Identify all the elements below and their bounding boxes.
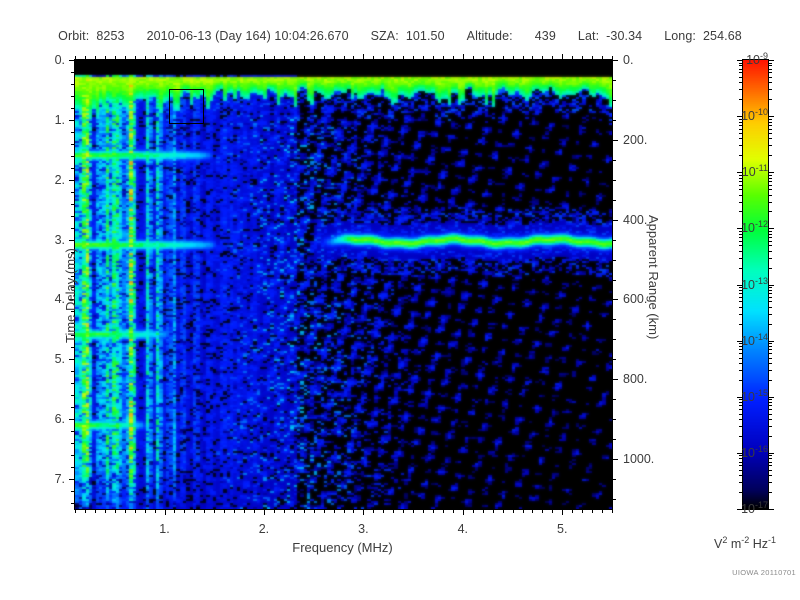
tick-frequency-minor <box>403 509 404 513</box>
tick-apparent-range-minor <box>612 399 616 400</box>
colorbar-tick-minor-right <box>768 185 772 186</box>
sza-label: SZA: <box>371 29 399 43</box>
tick-frequency-minor <box>174 509 175 513</box>
colorbar-tick-minor-left <box>739 462 743 463</box>
tick-frequency-minor <box>572 509 573 513</box>
tick-frequency-minor-top <box>473 56 474 60</box>
colorbar-tick-minor-left <box>739 297 743 298</box>
colorbar-tick-minor-left <box>739 77 743 78</box>
tick-frequency-minor-top <box>254 56 255 60</box>
tick-apparent-range-minor <box>612 80 616 81</box>
tick-frequency-minor <box>105 509 106 513</box>
tick-apparent-range-minor <box>612 200 616 201</box>
time-delay-tick-label: 4. <box>17 292 65 306</box>
tick-time-delay-minor <box>71 455 75 456</box>
tick-time-delay-minor <box>71 407 75 408</box>
time-delay-tick-label: 3. <box>17 233 65 247</box>
colorbar-tick-minor-right <box>768 465 772 466</box>
tick-frequency-minor-top <box>125 56 126 60</box>
tick-time-delay-major <box>69 419 75 420</box>
colorbar-units-label: V2 m-2 Hz-1 <box>690 535 800 551</box>
colorbar-tick-minor-right <box>768 290 772 291</box>
colorbar-tick-minor-left <box>739 301 743 302</box>
tick-frequency-minor-top <box>324 56 325 60</box>
colorbar-tick-minor-left <box>739 419 743 420</box>
tick-apparent-range-minor <box>612 280 616 281</box>
colorbar-label-mantissa: 10 <box>746 53 760 67</box>
colorbar-tick-minor-right <box>768 181 772 182</box>
colorbar-tick-minor-right <box>768 258 772 259</box>
long-value: 254.68 <box>703 29 742 43</box>
colorbar-tick-minor-right <box>768 129 772 130</box>
colorbar-tick-minor-left <box>739 426 743 427</box>
colorbar-tick-minor-left <box>739 258 743 259</box>
colorbar-tick-minor-left <box>739 409 743 410</box>
colorbar-tick-minor-left <box>739 89 743 90</box>
colorbar-tick-minor-right <box>768 72 772 73</box>
colorbar-tick-minor-right <box>768 462 772 463</box>
colorbar-tick-minor-left <box>739 324 743 325</box>
frequency-tick-label: 3. <box>358 522 368 536</box>
tick-frequency-minor-top <box>552 56 553 60</box>
colorbar-tick-minor-right <box>768 363 772 364</box>
ionogram-plot-area: 0.1.2.3.4.5.6.7. 0.200.400.600.800.1000.… <box>74 59 613 510</box>
tick-frequency-minor <box>324 509 325 513</box>
tick-frequency-minor-top <box>115 56 116 60</box>
tick-time-delay-minor <box>71 156 75 157</box>
tick-frequency-minor <box>532 509 533 513</box>
tick-frequency-minor <box>383 509 384 513</box>
sza-value: 101.50 <box>406 29 445 43</box>
colorbar-tick-minor-left <box>739 475 743 476</box>
tick-frequency-minor <box>413 509 414 513</box>
tick-frequency-minor-top <box>423 56 424 60</box>
colorbar-tick-minor-right <box>768 349 772 350</box>
colorbar-tick-minor-left <box>739 237 743 238</box>
colorbar-tick-major-right <box>768 397 774 398</box>
tick-apparent-range-minor <box>612 100 616 101</box>
tick-frequency-minor-top <box>493 56 494 60</box>
colorbar-tick-minor-left <box>739 185 743 186</box>
colorbar-label-exponent: -14 <box>755 332 768 342</box>
tick-time-delay-minor <box>71 371 75 372</box>
tick-frequency-major <box>562 509 563 515</box>
colorbar-tick-minor-left <box>739 195 743 196</box>
colorbar-tick-minor-left <box>739 211 743 212</box>
colorbar-tick-minor-right <box>768 65 772 66</box>
tick-frequency-minor <box>423 509 424 513</box>
colorbar-tick-minor-right <box>768 234 772 235</box>
tick-apparent-range-minor <box>612 419 616 420</box>
colorbar-tick-minor-left <box>739 436 743 437</box>
colorbar-tick-minor-right <box>768 492 772 493</box>
tick-frequency-major-top <box>363 54 364 60</box>
time-delay-tick-label: 7. <box>17 472 65 486</box>
colorbar-label-exponent: -9 <box>760 51 768 61</box>
colorbar-label-exponent: -12 <box>755 219 768 229</box>
colorbar-tick-minor-left <box>739 181 743 182</box>
colorbar-tick-minor-right <box>768 405 772 406</box>
colorbar-tick-label: 10-13 <box>741 275 768 291</box>
colorbar-tick-minor-right <box>768 307 772 308</box>
tick-apparent-range-minor <box>612 499 616 500</box>
tick-time-delay-major <box>69 180 75 181</box>
units-volts-exp: 2 <box>722 535 727 545</box>
tick-time-delay-major <box>69 479 75 480</box>
tick-frequency-minor <box>612 509 613 513</box>
colorbar-tick-major-right <box>768 116 774 117</box>
tick-frequency-minor <box>304 509 305 513</box>
tick-frequency-minor-top <box>174 56 175 60</box>
tick-time-delay-minor <box>71 443 75 444</box>
colorbar-tick-minor-right <box>768 293 772 294</box>
tick-frequency-major-top <box>463 54 464 60</box>
tick-apparent-range-major <box>612 459 618 460</box>
tick-frequency-minor <box>294 509 295 513</box>
tick-time-delay-minor <box>71 192 75 193</box>
colorbar-tick-minor-right <box>768 231 772 232</box>
colorbar-tick-label: 10-16 <box>741 444 768 460</box>
tick-frequency-minor <box>353 509 354 513</box>
tick-frequency-major-top <box>562 54 563 60</box>
tick-frequency-major <box>363 509 364 515</box>
tick-frequency-minor <box>284 509 285 513</box>
tick-frequency-minor <box>214 509 215 513</box>
colorbar-tick-minor-left <box>739 414 743 415</box>
colorbar-tick-minor-left <box>739 69 743 70</box>
tick-frequency-minor <box>95 509 96 513</box>
colorbar-tick-label: 10-17 <box>741 500 768 516</box>
orbit-label: Orbit: <box>58 29 89 43</box>
altitude-value: 439 <box>535 29 556 43</box>
tick-time-delay-minor <box>71 204 75 205</box>
tick-frequency-minor-top <box>383 56 384 60</box>
colorbar-tick-minor-right <box>768 69 772 70</box>
tick-frequency-minor <box>244 509 245 513</box>
colorbar-tick-minor-right <box>768 470 772 471</box>
lat-label: Lat: <box>578 29 599 43</box>
tick-frequency-minor <box>254 509 255 513</box>
frequency-tick-label: 1. <box>159 522 169 536</box>
tick-time-delay-minor <box>71 228 75 229</box>
colorbar-label-mantissa: 10 <box>741 446 755 460</box>
tick-frequency-minor <box>582 509 583 513</box>
tick-frequency-minor <box>224 509 225 513</box>
time-delay-tick-label: 1. <box>17 113 65 127</box>
tick-frequency-minor <box>85 509 86 513</box>
colorbar-tick-minor-left <box>739 129 743 130</box>
tick-frequency-minor-top <box>224 56 225 60</box>
colorbar-tick-major-right <box>768 60 774 61</box>
tick-frequency-minor-top <box>393 56 394 60</box>
tick-time-delay-major <box>69 359 75 360</box>
tick-frequency-minor-top <box>433 56 434 60</box>
tick-frequency-minor <box>503 509 504 513</box>
time-delay-tick-label: 0. <box>17 53 65 67</box>
colorbar-tick-label: 10-14 <box>741 332 768 348</box>
frequency-tick-label: 2. <box>259 522 269 536</box>
colorbar-tick-minor-right <box>768 343 772 344</box>
colorbar-tick-minor-right <box>768 99 772 100</box>
tick-frequency-minor <box>483 509 484 513</box>
tick-time-delay-minor <box>71 168 75 169</box>
colorbar-tick-minor-right <box>768 358 772 359</box>
tick-frequency-minor-top <box>612 56 613 60</box>
colorbar-label-mantissa: 10 <box>741 334 755 348</box>
colorbar-tick-minor-right <box>768 301 772 302</box>
tick-frequency-minor-top <box>592 56 593 60</box>
colorbar-label-exponent: -15 <box>755 388 768 398</box>
colorbar-tick-minor-right <box>768 314 772 315</box>
colorbar-label-exponent: -17 <box>755 500 768 510</box>
units-meters: m <box>731 537 741 551</box>
tick-frequency-minor <box>194 509 195 513</box>
apparent-range-tick-label: 0. <box>623 53 633 67</box>
tick-time-delay-minor <box>71 383 75 384</box>
colorbar-tick-minor-right <box>768 241 772 242</box>
frequency-tick-label: 5. <box>557 522 567 536</box>
colorbar-tick-minor-left <box>739 370 743 371</box>
colorbar-tick-label: 10-10 <box>741 107 768 123</box>
tick-frequency-minor <box>453 509 454 513</box>
colorbar-label-mantissa: 10 <box>741 390 755 404</box>
tick-frequency-minor-top <box>353 56 354 60</box>
colorbar-tick-minor-left <box>739 72 743 73</box>
tick-frequency-minor-top <box>75 56 76 60</box>
colorbar-tick-minor-left <box>739 133 743 134</box>
tick-apparent-range-major <box>612 220 618 221</box>
tick-time-delay-minor <box>71 431 75 432</box>
tick-apparent-range-minor <box>612 120 616 121</box>
colorbar-tick-minor-right <box>768 287 772 288</box>
tick-frequency-minor <box>513 509 514 513</box>
apparent-range-tick-label: 600. <box>623 292 647 306</box>
tick-frequency-minor <box>314 509 315 513</box>
tick-frequency-minor <box>155 509 156 513</box>
colorbar-tick-minor-right <box>768 77 772 78</box>
colorbar-tick-minor-left <box>739 405 743 406</box>
tick-time-delay-major <box>69 240 75 241</box>
tick-frequency-minor-top <box>532 56 533 60</box>
colorbar-tick-minor-right <box>768 380 772 381</box>
tick-frequency-minor-top <box>274 56 275 60</box>
colorbar-label-exponent: -10 <box>755 107 768 117</box>
tick-time-delay-minor <box>71 72 75 73</box>
y-axis-title-right: Apparent Range (km) <box>646 215 661 339</box>
colorbar-tick-label: 10-12 <box>741 219 768 235</box>
altitude-label: Altitude: <box>467 29 513 43</box>
colorbar-tick-major-right <box>768 285 774 286</box>
tick-frequency-minor-top <box>373 56 374 60</box>
colorbar-tick-minor-right <box>768 436 772 437</box>
colorbar-tick-minor-left <box>739 202 743 203</box>
tick-frequency-minor-top <box>483 56 484 60</box>
tick-frequency-minor-top <box>403 56 404 60</box>
time-delay-tick-label: 5. <box>17 352 65 366</box>
tick-frequency-minor <box>125 509 126 513</box>
colorbar-tick-minor-right <box>768 268 772 269</box>
tick-frequency-minor-top <box>234 56 235 60</box>
colorbar-tick-minor-right <box>768 402 772 403</box>
colorbar-tick-minor-right <box>768 155 772 156</box>
colorbar-label-exponent: -11 <box>756 163 768 173</box>
colorbar-tick-minor-left <box>739 349 743 350</box>
colorbar-tick-minor-right <box>768 138 772 139</box>
tick-frequency-minor-top <box>513 56 514 60</box>
colorbar-tick-minor-left <box>739 363 743 364</box>
time-delay-tick-label: 2. <box>17 173 65 187</box>
time-delay-tick-label: 6. <box>17 412 65 426</box>
observation-datetime: 2010-06-13 (Day 164) 10:04:26.670 <box>147 29 349 43</box>
tick-time-delay-minor <box>71 132 75 133</box>
colorbar-tick-minor-left <box>739 482 743 483</box>
colorbar-tick-minor-right <box>768 202 772 203</box>
colorbar-tick-minor-right <box>768 89 772 90</box>
colorbar-tick-minor-right <box>768 175 772 176</box>
tick-frequency-minor-top <box>304 56 305 60</box>
tick-frequency-minor <box>433 509 434 513</box>
colorbar-label-mantissa: 10 <box>741 221 755 235</box>
colorbar-tick-minor-left <box>739 293 743 294</box>
tick-frequency-minor-top <box>184 56 185 60</box>
tick-frequency-minor-top <box>572 56 573 60</box>
x-axis-title: Frequency (MHz) <box>74 540 611 555</box>
tick-frequency-minor-top <box>244 56 245 60</box>
tick-apparent-range-minor <box>612 260 616 261</box>
lat-value: -30.34 <box>606 29 642 43</box>
colorbar-tick-minor-left <box>739 492 743 493</box>
tick-frequency-minor <box>344 509 345 513</box>
colorbar-tick-minor-right <box>768 125 772 126</box>
tick-frequency-minor <box>115 509 116 513</box>
colorbar-tick-minor-right <box>768 133 772 134</box>
colorbar-tick-minor-left <box>739 82 743 83</box>
colorbar-tick-minor-right <box>768 370 772 371</box>
tick-apparent-range-major <box>612 379 618 380</box>
colorbar-tick-minor-left <box>739 353 743 354</box>
colorbar-tick-minor-right <box>768 63 772 64</box>
tick-frequency-minor-top <box>135 56 136 60</box>
colorbar-tick-minor-left <box>739 358 743 359</box>
colorbar-tick-minor-left <box>739 251 743 252</box>
colorbar-tick-minor-right <box>768 414 772 415</box>
tick-frequency-minor <box>184 509 185 513</box>
tick-frequency-minor-top <box>542 56 543 60</box>
tick-frequency-major-top <box>264 54 265 60</box>
tick-frequency-minor-top <box>214 56 215 60</box>
tick-frequency-minor-top <box>582 56 583 60</box>
colorbar-tick-major-right <box>768 172 774 173</box>
apparent-range-tick-label: 800. <box>623 372 647 386</box>
colorbar-tick-minor-right <box>768 122 772 123</box>
tick-frequency-major <box>165 509 166 515</box>
colorbar-tick-minor-right <box>768 195 772 196</box>
colorbar-tick-minor-right <box>768 458 772 459</box>
header-info-line: Orbit:82532010-06-13 (Day 164) 10:04:26.… <box>0 29 800 43</box>
tick-frequency-minor <box>145 509 146 513</box>
frequency-tick-label: 4. <box>458 522 468 536</box>
tick-apparent-range-minor <box>612 339 616 340</box>
tick-time-delay-minor <box>71 503 75 504</box>
colorbar-tick-minor-left <box>739 245 743 246</box>
tick-frequency-minor <box>204 509 205 513</box>
colorbar-tick-minor-right <box>768 237 772 238</box>
colorbar-tick-minor-left <box>739 380 743 381</box>
apparent-range-tick-label: 1000. <box>623 452 654 466</box>
tick-frequency-minor-top <box>503 56 504 60</box>
colorbar-tick-minor-left <box>739 125 743 126</box>
colorbar-tick-minor-right <box>768 119 772 120</box>
tick-frequency-minor-top <box>95 56 96 60</box>
ionogram-heatmap <box>75 60 612 509</box>
tick-frequency-minor <box>274 509 275 513</box>
tick-frequency-minor-top <box>204 56 205 60</box>
tick-frequency-minor <box>592 509 593 513</box>
tick-time-delay-minor <box>71 96 75 97</box>
colorbar-label-mantissa: 10 <box>741 502 755 516</box>
tick-apparent-range-minor <box>612 180 616 181</box>
tick-frequency-minor-top <box>443 56 444 60</box>
credit-watermark: UIOWA 20110701 <box>660 568 796 577</box>
colorbar-tick-major-right <box>768 228 774 229</box>
tick-frequency-minor-top <box>155 56 156 60</box>
colorbar-tick-minor-right <box>768 399 772 400</box>
tick-frequency-minor <box>493 509 494 513</box>
colorbar-tick-major-left <box>737 60 743 61</box>
colorbar-label-mantissa: 10 <box>741 278 755 292</box>
colorbar-label-mantissa: 10 <box>742 165 756 179</box>
colorbar-tick-minor-right <box>768 455 772 456</box>
tick-frequency-minor <box>373 509 374 513</box>
colorbar-tick-minor-left <box>739 145 743 146</box>
colorbar-tick-minor-right <box>768 178 772 179</box>
tick-apparent-range-minor <box>612 479 616 480</box>
tick-frequency-minor-top <box>105 56 106 60</box>
tick-frequency-minor <box>334 509 335 513</box>
colorbar-label-exponent: -16 <box>755 444 768 454</box>
tick-frequency-minor <box>234 509 235 513</box>
tick-apparent-range-major <box>612 60 618 61</box>
colorbar-tick-minor-right <box>768 211 772 212</box>
tick-time-delay-major <box>69 60 75 61</box>
apparent-range-tick-label: 400. <box>623 213 647 227</box>
colorbar-tick-minor-right <box>768 409 772 410</box>
colorbar-tick-minor-right <box>768 82 772 83</box>
colorbar-tick-minor-left <box>739 189 743 190</box>
tick-apparent-range-major <box>612 140 618 141</box>
colorbar-tick-minor-left <box>739 63 743 64</box>
colorbar-tick-label: 10-15 <box>741 388 768 404</box>
tick-apparent-range-minor <box>612 319 616 320</box>
colorbar-tick-minor-right <box>768 482 772 483</box>
units-meters-exp: -2 <box>741 535 749 545</box>
tick-frequency-major <box>264 509 265 515</box>
tick-frequency-minor <box>443 509 444 513</box>
tick-apparent-range-minor <box>612 439 616 440</box>
tick-time-delay-minor <box>71 467 75 468</box>
tick-frequency-minor-top <box>453 56 454 60</box>
tick-frequency-minor-top <box>413 56 414 60</box>
tick-frequency-minor <box>542 509 543 513</box>
tick-frequency-minor-top <box>602 56 603 60</box>
tick-time-delay-minor <box>71 347 75 348</box>
tick-time-delay-major <box>69 120 75 121</box>
colorbar-label-mantissa: 10 <box>741 109 755 123</box>
tick-apparent-range-minor <box>612 240 616 241</box>
colorbar-label-exponent: -13 <box>755 275 768 285</box>
tick-frequency-minor <box>552 509 553 513</box>
tick-time-delay-minor <box>71 216 75 217</box>
